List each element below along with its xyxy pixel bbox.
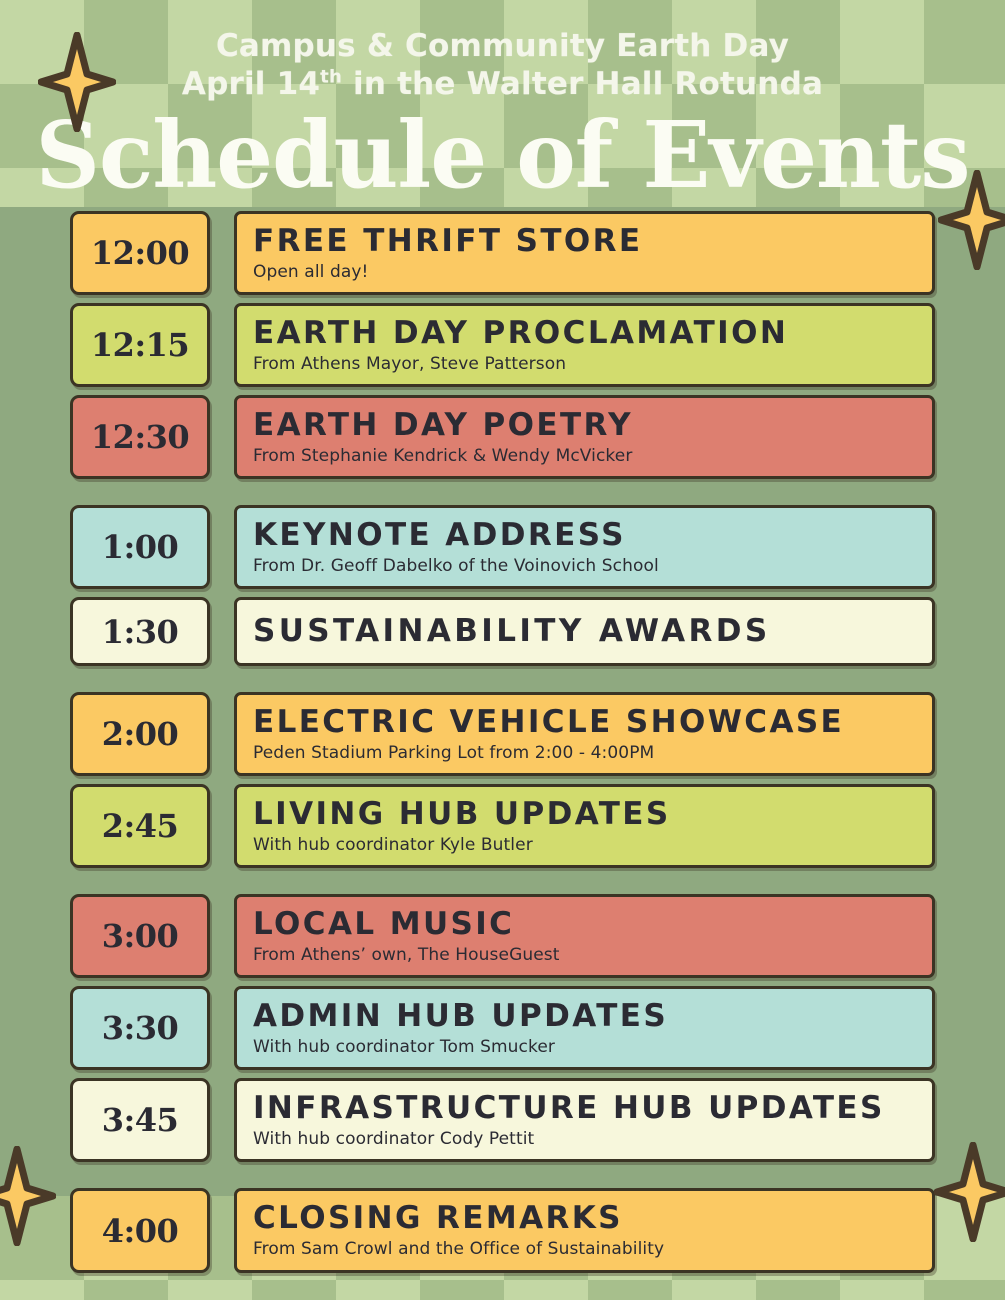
time-label: 3:00 <box>102 917 179 955</box>
event-title: KEYNOTE ADDRESS <box>253 518 932 553</box>
time-chip: 12:15 <box>70 303 210 387</box>
event-title: EARTH DAY PROCLAMATION <box>253 316 932 351</box>
time-label: 2:00 <box>102 715 179 753</box>
time-chip: 3:00 <box>70 894 210 978</box>
time-chip: 12:00 <box>70 211 210 295</box>
time-label: 1:00 <box>102 528 179 566</box>
time-label: 2:45 <box>102 807 179 845</box>
time-label: 3:30 <box>102 1009 179 1047</box>
time-label: 3:45 <box>102 1101 179 1139</box>
schedule-row: 12:30EARTH DAY POETRYFrom Stephanie Kend… <box>0 395 1005 479</box>
event-card: ELECTRIC VEHICLE SHOWCASEPeden Stadium P… <box>234 692 935 776</box>
event-subtitle: With hub coordinator Kyle Butler <box>253 835 932 855</box>
event-subtitle: From Sam Crowl and the Office of Sustain… <box>253 1239 932 1259</box>
time-label: 1:30 <box>102 613 179 651</box>
event-title: FREE THRIFT STORE <box>253 224 932 259</box>
event-subtitle: Open all day! <box>253 262 932 282</box>
schedule-row: 4:00CLOSING REMARKSFrom Sam Crowl and th… <box>0 1188 1005 1272</box>
time-label: 12:30 <box>91 418 189 456</box>
event-card: FREE THRIFT STOREOpen all day! <box>234 211 935 295</box>
event-card: SUSTAINABILITY AWARDS <box>234 597 935 666</box>
time-label: 4:00 <box>102 1212 179 1250</box>
schedule-row: 12:15EARTH DAY PROCLAMATIONFrom Athens M… <box>0 303 1005 387</box>
event-subtitle: Peden Stadium Parking Lot from 2:00 - 4:… <box>253 743 932 763</box>
event-date-prefix: April 14 <box>182 66 320 102</box>
schedule-row: 3:30ADMIN HUB UPDATESWith hub coordinato… <box>0 986 1005 1070</box>
poster-header: Campus & Community Earth Day April 14th … <box>0 0 1005 200</box>
event-subtitle: From Dr. Geoff Dabelko of the Voinovich … <box>253 556 932 576</box>
event-title: ADMIN HUB UPDATES <box>253 999 932 1034</box>
event-card: EARTH DAY PROCLAMATIONFrom Athens Mayor,… <box>234 303 935 387</box>
page-title: Schedule of Events <box>15 110 990 200</box>
event-title: SUSTAINABILITY AWARDS <box>253 614 932 649</box>
event-subtitle: From Athens’ own, The HouseGuest <box>253 945 932 965</box>
event-subtitle-line2: April 14th in the Walter Hall Rotunda <box>0 66 1005 104</box>
event-subtitle: From Stephanie Kendrick & Wendy McVicker <box>253 446 932 466</box>
event-card: INFRASTRUCTURE HUB UPDATESWith hub coord… <box>234 1078 935 1162</box>
time-chip: 2:00 <box>70 692 210 776</box>
event-title: CLOSING REMARKS <box>253 1201 932 1236</box>
event-card: LIVING HUB UPDATESWith hub coordinator K… <box>234 784 935 868</box>
time-chip: 2:45 <box>70 784 210 868</box>
schedule-row: 1:30SUSTAINABILITY AWARDS <box>0 597 1005 666</box>
schedule-row: 3:45INFRASTRUCTURE HUB UPDATESWith hub c… <box>0 1078 1005 1162</box>
event-title: LOCAL MUSIC <box>253 907 932 942</box>
schedule-list: 12:00FREE THRIFT STOREOpen all day!12:15… <box>0 200 1005 1273</box>
schedule-row: 12:00FREE THRIFT STOREOpen all day! <box>0 211 1005 295</box>
time-chip: 1:00 <box>70 505 210 589</box>
schedule-row: 2:45LIVING HUB UPDATESWith hub coordinat… <box>0 784 1005 868</box>
time-chip: 1:30 <box>70 597 210 666</box>
schedule-row: 2:00ELECTRIC VEHICLE SHOWCASEPeden Stadi… <box>0 692 1005 776</box>
event-title: LIVING HUB UPDATES <box>253 797 932 832</box>
schedule-row: 1:00KEYNOTE ADDRESSFrom Dr. Geoff Dabelk… <box>0 505 1005 589</box>
event-card: CLOSING REMARKSFrom Sam Crowl and the Of… <box>234 1188 935 1272</box>
time-chip: 3:45 <box>70 1078 210 1162</box>
event-subtitle: With hub coordinator Tom Smucker <box>253 1037 932 1057</box>
event-subtitle-line1: Campus & Community Earth Day <box>0 28 1005 66</box>
event-card: LOCAL MUSICFrom Athens’ own, The HouseGu… <box>234 894 935 978</box>
event-card: KEYNOTE ADDRESSFrom Dr. Geoff Dabelko of… <box>234 505 935 589</box>
time-label: 12:15 <box>91 326 189 364</box>
earth-day-schedule-poster: Campus & Community Earth Day April 14th … <box>0 0 1005 1300</box>
event-subtitle: With hub coordinator Cody Pettit <box>253 1129 932 1149</box>
event-location: in the Walter Hall Rotunda <box>342 66 823 102</box>
event-title: INFRASTRUCTURE HUB UPDATES <box>253 1091 932 1126</box>
time-label: 12:00 <box>91 234 189 272</box>
event-subtitle: From Athens Mayor, Steve Patterson <box>253 354 932 374</box>
schedule-row: 3:00LOCAL MUSICFrom Athens’ own, The Hou… <box>0 894 1005 978</box>
time-chip: 12:30 <box>70 395 210 479</box>
event-title: ELECTRIC VEHICLE SHOWCASE <box>253 705 932 740</box>
event-card: ADMIN HUB UPDATESWith hub coordinator To… <box>234 986 935 1070</box>
event-date-ordinal-suffix: th <box>320 66 342 87</box>
event-card: EARTH DAY POETRYFrom Stephanie Kendrick … <box>234 395 935 479</box>
time-chip: 4:00 <box>70 1188 210 1272</box>
time-chip: 3:30 <box>70 986 210 1070</box>
event-title: EARTH DAY POETRY <box>253 408 932 443</box>
